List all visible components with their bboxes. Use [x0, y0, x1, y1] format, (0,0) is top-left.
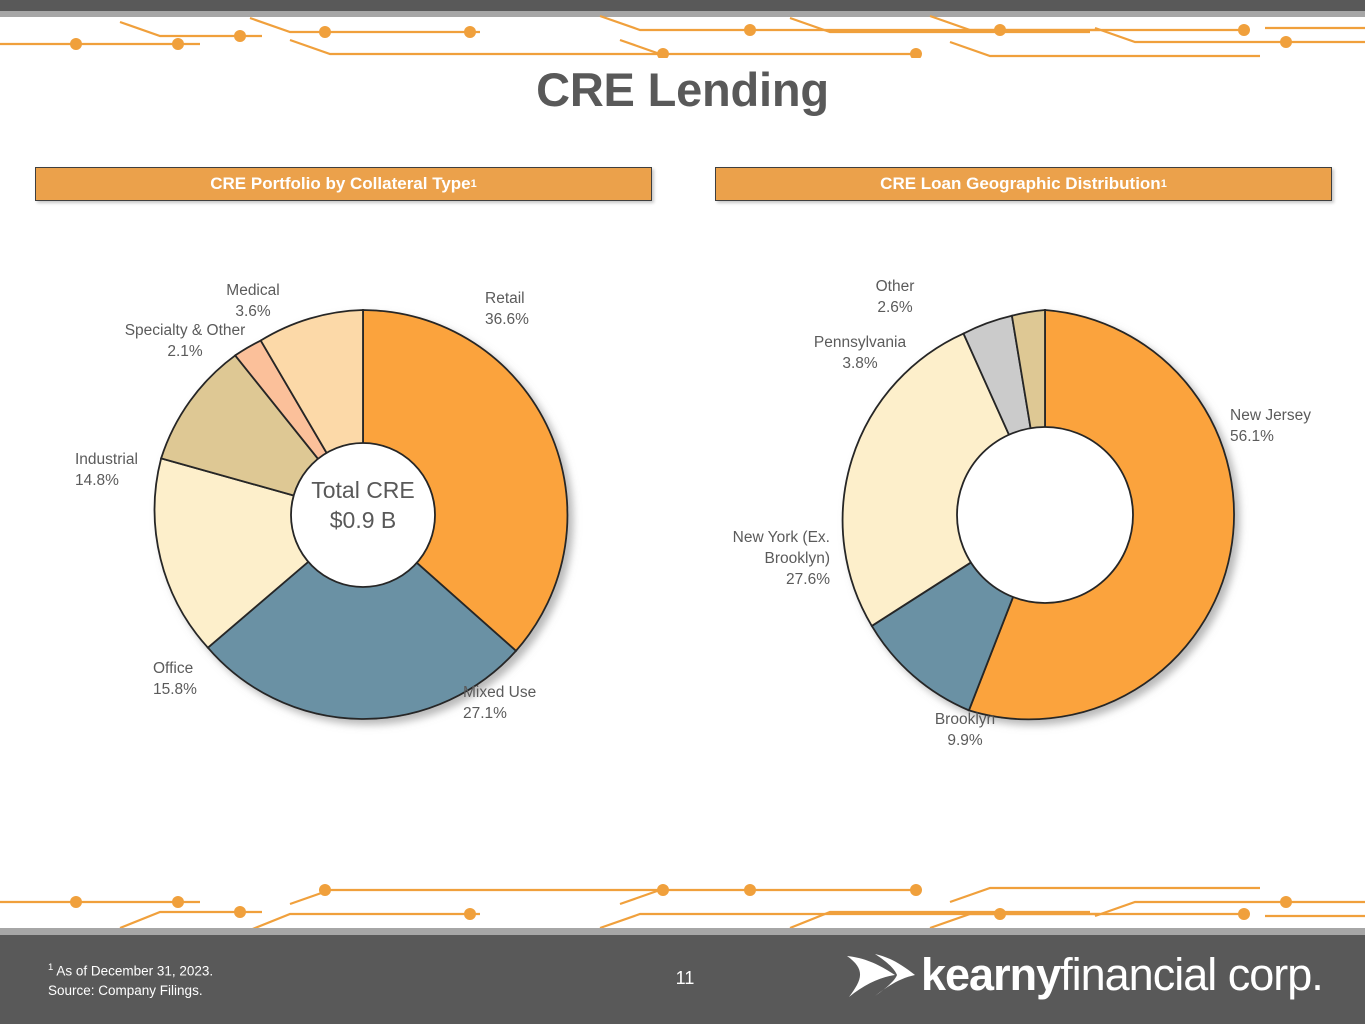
page-number: 11: [650, 968, 720, 989]
kearny-financial-corp-logo: kearnyfinancial corp.: [845, 944, 1323, 1006]
bottom-light-bar: [0, 928, 1365, 935]
banner-cre-portfolio-by-collateral-type: CRE Portfolio by Collateral Type1: [35, 167, 652, 201]
logo-text-light: financial corp.: [1060, 949, 1323, 1000]
slice-label-mixed-use: Mixed Use 27.1%: [463, 682, 613, 724]
page-title: CRE Lending: [0, 62, 1365, 117]
slice-label-specialty-other: Specialty & Other 2.1%: [75, 320, 295, 362]
logo-text-bold: kearny: [921, 949, 1060, 1000]
slice-label-other: Other 2.6%: [825, 276, 965, 318]
kearny-swoosh-icon: [845, 948, 917, 1002]
slice-label-retail: Retail 36.6%: [485, 288, 635, 330]
chart-cre-portfolio-by-collateral-type: Total CRE $0.9 B Retail 36.6% Mixed Use …: [20, 250, 680, 770]
slice-label-pennsylvania: Pennsylvania 3.8%: [760, 332, 960, 374]
footnote-date: As of December 31, 2023.: [56, 964, 213, 979]
banner-right-text: CRE Loan Geographic Distribution: [880, 174, 1161, 194]
banner-right-superscript: 1: [1161, 178, 1167, 190]
footnote: 1 As of December 31, 2023. Source: Compa…: [48, 958, 213, 1000]
banner-left-text: CRE Portfolio by Collateral Type: [210, 174, 470, 194]
footnote-line-2: Source: Company Filings.: [48, 981, 213, 1000]
footnote-line-1: 1 As of December 31, 2023.: [48, 958, 213, 981]
slice-label-new-york: New York (Ex. Brooklyn) 27.6%: [680, 527, 830, 590]
logo-wordmark: kearnyfinancial corp.: [921, 949, 1323, 1001]
banner-cre-loan-geographic-distribution: CRE Loan Geographic Distribution1: [715, 167, 1332, 201]
footnote-marker: 1: [48, 962, 53, 973]
slice-label-industrial: Industrial 14.8%: [75, 449, 225, 491]
slice-label-new-jersey: New Jersey 56.1%: [1230, 405, 1365, 447]
donut-chart-geographic: [690, 250, 1350, 770]
slide-canvas: CRE Lending CRE Portfolio by Collateral …: [0, 0, 1365, 1024]
slice-label-medical: Medical 3.6%: [183, 280, 323, 322]
chart-cre-loan-geographic-distribution: New Jersey 56.1% Brooklyn 9.9% New York …: [690, 250, 1350, 770]
slice-label-brooklyn: Brooklyn 9.9%: [885, 709, 1045, 751]
banner-left-superscript: 1: [471, 178, 477, 190]
circuit-decoration-top: [0, 14, 1365, 58]
circuit-decoration-bottom: [0, 884, 1365, 930]
slice-label-office: Office 15.8%: [153, 658, 293, 700]
top-dark-bar: [0, 0, 1365, 11]
